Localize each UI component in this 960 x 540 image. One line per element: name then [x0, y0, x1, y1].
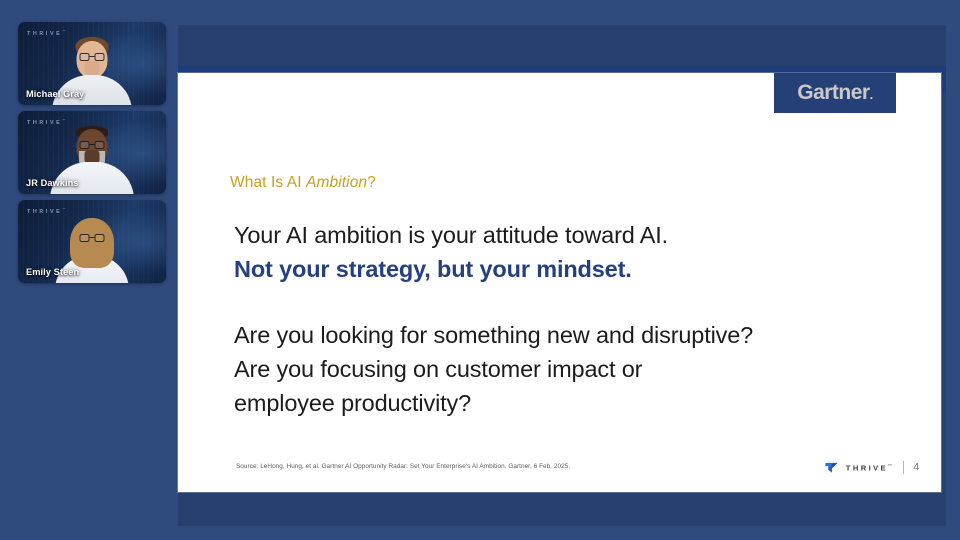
figure-neck — [85, 61, 100, 75]
slide-title: What Is AI Ambition? — [230, 174, 376, 192]
participant-filmstrip: THRIVE™ Michael Gray THRIVE™ JR Dawkins — [0, 0, 172, 540]
slide-footer: THRIVE™ 4 — [824, 460, 919, 475]
thrive-watermark: THRIVE™ — [27, 207, 68, 215]
participant-name-label: Emily Steen — [26, 267, 79, 277]
glasses-icon — [80, 53, 105, 61]
slide-body-line-accent: Not your strategy, but your mindset. — [234, 252, 668, 286]
participant-tile-emily-steen[interactable]: THRIVE™ Emily Steen — [18, 200, 166, 283]
thrive-watermark-text: THRIVE — [27, 120, 62, 126]
participant-tile-michael-gray[interactable]: THRIVE™ Michael Gray — [18, 22, 166, 105]
slide-body-line: Are you looking for something new and di… — [234, 318, 753, 352]
thrive-logo-icon — [824, 460, 839, 475]
thrive-watermark-tm: ™ — [62, 29, 68, 33]
slide-paragraph-2: Are you looking for something new and di… — [234, 318, 753, 420]
participant-name-label: JR Dawkins — [26, 178, 79, 188]
glasses-icon — [80, 141, 105, 149]
gartner-logo-dot: . — [870, 87, 873, 102]
thrive-watermark-text: THRIVE — [27, 209, 62, 215]
slide-body-line: Are you focusing on customer impact or — [234, 352, 753, 386]
gartner-logo-text: Gartner. — [797, 81, 872, 105]
slide-body-line: employee productivity? — [234, 386, 753, 420]
gartner-logo-word: Gartner — [797, 81, 869, 104]
slide-source-citation: Source: LeHong, Hung, et al. Gartner AI … — [236, 463, 570, 470]
slide-page-number: 4 — [913, 462, 919, 473]
thrive-logo-tm: ™ — [888, 463, 894, 468]
slide-paragraph-1: Your AI ambition is your attitude toward… — [234, 218, 668, 286]
figure-hair — [70, 218, 114, 268]
thrive-watermark-tm: ™ — [62, 118, 68, 122]
participant-tile-jr-dawkins[interactable]: THRIVE™ JR Dawkins — [18, 111, 166, 194]
footer-divider — [903, 461, 904, 474]
glasses-icon — [80, 234, 105, 242]
screen-share-stage: Gartner. What Is AI Ambition? Your AI am… — [178, 25, 946, 526]
thrive-watermark-text: THRIVE — [27, 31, 62, 37]
slide-title-emphasis: Ambition — [306, 174, 367, 191]
thrive-watermark-tm: ™ — [62, 207, 68, 211]
participant-name-label: Michael Gray — [26, 89, 84, 99]
slide-body-line: Your AI ambition is your attitude toward… — [234, 218, 668, 252]
thrive-watermark: THRIVE™ — [27, 118, 68, 126]
meeting-window: THRIVE™ Michael Gray THRIVE™ JR Dawkins — [0, 0, 960, 540]
slide-title-prefix: What Is AI — [230, 174, 306, 191]
thrive-logo-word: THRIVE — [846, 463, 888, 472]
slide-title-suffix: ? — [367, 174, 376, 191]
gartner-logo: Gartner. — [774, 73, 896, 113]
thrive-watermark: THRIVE™ — [27, 29, 68, 37]
presentation-slide: Gartner. What Is AI Ambition? Your AI am… — [178, 73, 941, 492]
thrive-logo-text: THRIVE™ — [846, 463, 895, 473]
